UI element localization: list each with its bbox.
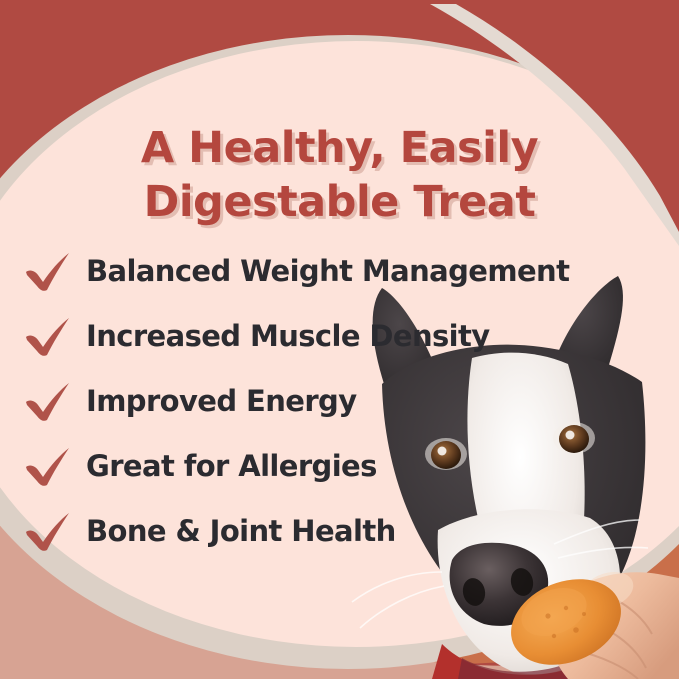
check-icon	[22, 508, 72, 554]
poster-canvas: A Healthy, Easily Digestable Treat Balan…	[0, 0, 679, 679]
poster-content: A Healthy, Easily Digestable Treat Balan…	[0, 0, 679, 679]
check-icon	[22, 378, 72, 424]
list-item: Great for Allergies	[22, 433, 662, 498]
list-item-label: Improved Energy	[86, 384, 357, 418]
list-item: Increased Muscle Density	[22, 303, 662, 368]
check-icon	[22, 313, 72, 359]
list-item-label: Balanced Weight Management	[86, 254, 569, 288]
list-item: Improved Energy	[22, 368, 662, 433]
list-item: Balanced Weight Management	[22, 238, 662, 303]
benefits-list: Balanced Weight Management Increased Mus…	[22, 238, 662, 563]
list-item: Bone & Joint Health	[22, 498, 662, 563]
check-icon	[22, 443, 72, 489]
list-item-label: Bone & Joint Health	[86, 514, 396, 548]
list-item-label: Increased Muscle Density	[86, 319, 490, 353]
list-item-label: Great for Allergies	[86, 449, 377, 483]
check-icon	[22, 248, 72, 294]
page-title: A Healthy, Easily Digestable Treat	[0, 121, 679, 229]
